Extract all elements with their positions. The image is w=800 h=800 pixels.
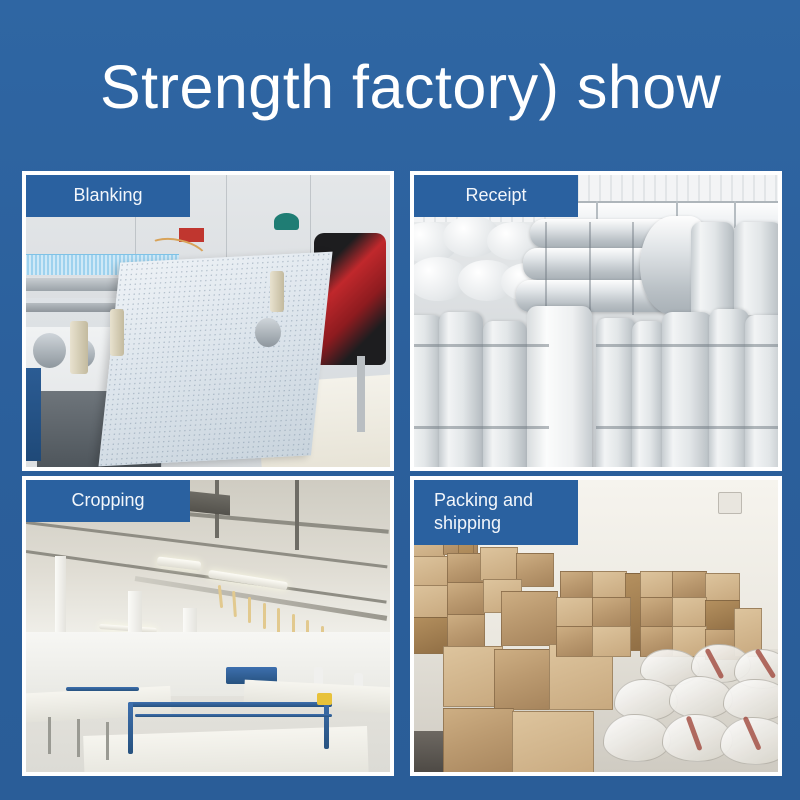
vertical-fabric-roll [527, 306, 593, 467]
cutting-floor-photo: Cropping [26, 480, 390, 772]
table-leg [48, 717, 51, 755]
carton [592, 597, 630, 628]
photo-card-receipt[interactable]: Receipt [410, 171, 782, 471]
vertical-fabric-roll [439, 312, 483, 467]
fabric-sheet [98, 251, 332, 466]
carton [414, 556, 449, 587]
plastic-wrapped-bundle [603, 714, 671, 763]
vertical-fabric-roll [596, 318, 636, 467]
carton [592, 626, 630, 657]
vertical-fabric-roll [745, 315, 778, 467]
wall-vent [718, 492, 742, 514]
carton [556, 626, 594, 657]
card-label-packing: Packing and shipping [414, 480, 578, 545]
carton [414, 585, 449, 619]
blue-cabinet-door [26, 368, 41, 461]
carton [592, 571, 627, 599]
roll-strap [414, 344, 549, 347]
photo-card-blanking[interactable]: Blanking [22, 171, 394, 471]
vertical-fabric-roll [483, 321, 527, 467]
poster-root: Strength factory) show [0, 0, 800, 800]
blanking-machine-photo: Blanking [26, 175, 390, 467]
fabric-roll-warehouse-photo: Receipt [414, 175, 778, 467]
carton [672, 571, 707, 599]
spool [110, 309, 125, 356]
ceiling-column [295, 480, 299, 550]
card-label-blanking: Blanking [26, 175, 190, 217]
vertical-fabric-roll [709, 309, 749, 467]
cutter-gantry-leg [128, 702, 133, 755]
card-label-cropping: Cropping [26, 480, 190, 522]
cutter-gantry [128, 702, 332, 707]
carton [516, 553, 554, 587]
photo-card-packing[interactable]: Packing and shipping [410, 476, 782, 776]
carton-large [494, 649, 554, 709]
window-mullion [734, 201, 736, 227]
hanging-wire [277, 608, 280, 634]
table-leg [77, 719, 80, 757]
chair-leg [357, 356, 364, 432]
photo-grid: Blanking [22, 171, 782, 776]
spool [270, 271, 285, 312]
fabric-texture [98, 251, 332, 466]
roll-strap [414, 426, 549, 429]
carton [640, 571, 675, 599]
roll-strap [545, 222, 547, 315]
carton [672, 597, 707, 628]
carton [480, 547, 518, 581]
roll-strap [596, 426, 778, 429]
vertical-fabric-roll [691, 222, 735, 315]
carton [705, 573, 740, 601]
spool [70, 321, 88, 374]
roll-strap [632, 222, 634, 315]
roll-strap [589, 222, 591, 315]
carton-large [512, 711, 594, 772]
carton [560, 571, 595, 599]
hanging-wire [263, 603, 266, 629]
carton [640, 597, 675, 628]
vertical-fabric-roll [662, 312, 713, 467]
feed-roller [33, 333, 66, 368]
feed-roller [255, 318, 280, 347]
plastic-wrapped-bundle [723, 679, 778, 722]
roll-strap [596, 344, 778, 347]
carton-large [443, 708, 514, 772]
cutter-rail [135, 714, 332, 717]
photo-card-cropping[interactable]: Cropping [22, 476, 394, 776]
green-machine-head [274, 213, 299, 231]
hanging-wire [248, 597, 251, 623]
vertical-fabric-roll [734, 222, 778, 315]
card-label-receipt: Receipt [414, 175, 578, 217]
vertical-fabric-roll [632, 321, 665, 467]
yellow-marker [317, 693, 332, 705]
packing-shipping-photo: Packing and shipping [414, 480, 778, 772]
carton [447, 582, 485, 616]
carton [556, 597, 594, 628]
page-title: Strength factory) show [100, 48, 720, 126]
cutter-gantry [66, 687, 139, 691]
table-leg [106, 722, 109, 760]
carton-large [501, 591, 558, 646]
